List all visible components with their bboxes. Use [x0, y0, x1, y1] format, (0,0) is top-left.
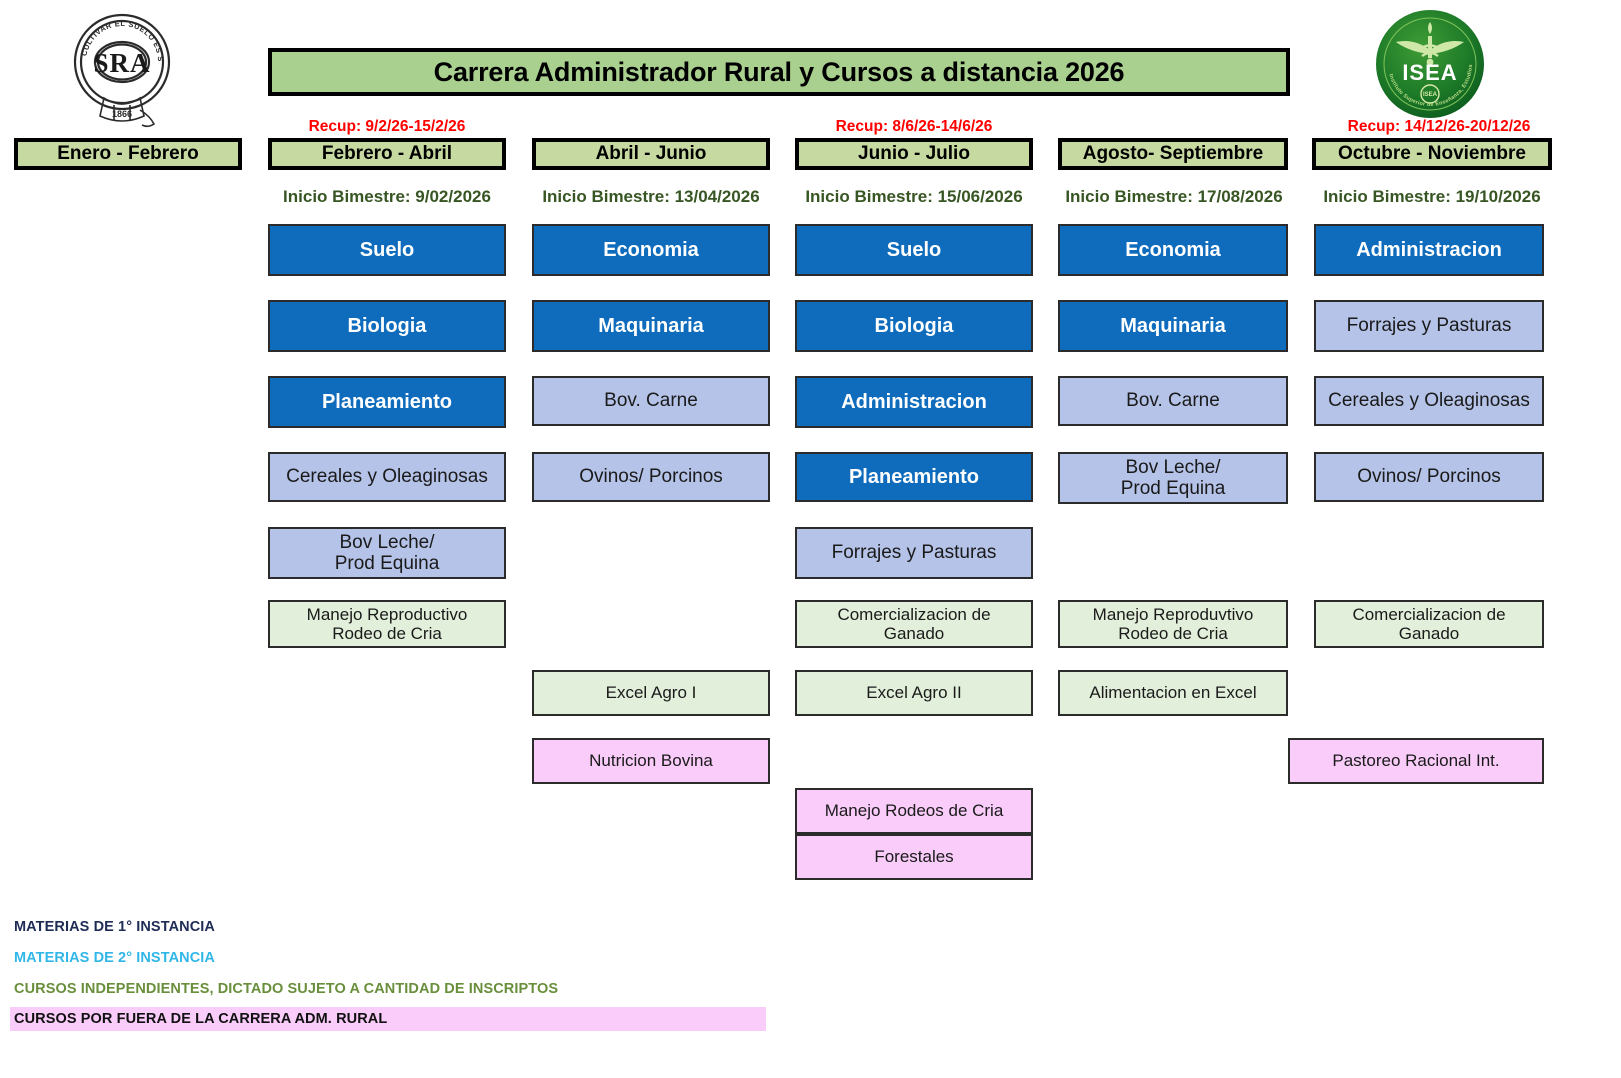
course-box[interactable]: Economia	[1058, 224, 1288, 276]
inicio-label-agosto-septiembre: Inicio Bimestre: 17/08/2026	[1050, 186, 1298, 208]
inicio-label-junio-julio: Inicio Bimestre: 15/06/2026	[787, 186, 1041, 208]
month-header-agosto-septiembre[interactable]: Agosto- Septiembre	[1058, 138, 1288, 170]
course-box[interactable]: Nutricion Bovina	[532, 738, 770, 784]
course-box[interactable]: Administracion	[1314, 224, 1544, 276]
recup-label-abril-junio	[532, 117, 770, 137]
svg-text:ISEA: ISEA	[1423, 92, 1438, 98]
month-header-enero-febrero[interactable]: Enero - Febrero	[14, 138, 242, 170]
recup-label-febrero-abril: Recup: 9/2/26-15/2/26	[268, 117, 506, 137]
course-box[interactable]: Excel Agro II	[795, 670, 1033, 716]
course-box[interactable]: Forrajes y Pasturas	[1314, 300, 1544, 352]
month-header-junio-julio[interactable]: Junio - Julio	[795, 138, 1033, 170]
course-box[interactable]: Ovinos/ Porcinos	[532, 452, 770, 502]
course-box[interactable]: Biologia	[795, 300, 1033, 352]
course-box[interactable]: Administracion	[795, 376, 1033, 428]
course-box[interactable]: Cereales y Oleaginosas	[268, 452, 506, 502]
recup-label-junio-julio: Recup: 8/6/26-14/6/26	[795, 117, 1033, 137]
month-header-febrero-abril[interactable]: Febrero - Abril	[268, 138, 506, 170]
legend-item-cursos-por-fuera: CURSOS POR FUERA DE LA CARRERA ADM. RURA…	[10, 1007, 766, 1031]
recup-label-octubre-noviembre: Recup: 14/12/26-20/12/26	[1312, 117, 1566, 137]
course-box[interactable]: Planeamiento	[268, 376, 506, 428]
course-box[interactable]: Cereales y Oleaginosas	[1314, 376, 1544, 426]
course-box[interactable]: Pastoreo Racional Int.	[1288, 738, 1544, 784]
course-box[interactable]: Manejo Reproductivo Rodeo de Cria	[268, 600, 506, 648]
course-box[interactable]: Suelo	[795, 224, 1033, 276]
course-box[interactable]: Alimentacion en Excel	[1058, 670, 1288, 716]
course-box[interactable]: Manejo Rodeos de Cria	[795, 788, 1033, 834]
sra-logo: SRA 1866 CULTIVAR EL SUELO ES SERVIR A L…	[52, 10, 192, 128]
course-box[interactable]: Forestales	[795, 834, 1033, 880]
inicio-label-febrero-abril: Inicio Bimestre: 9/02/2026	[268, 186, 506, 208]
svg-text:ISEA: ISEA	[1402, 60, 1457, 85]
course-box[interactable]: Comercializacion de Ganado	[1314, 600, 1544, 648]
course-box[interactable]: Planeamiento	[795, 452, 1033, 502]
course-box[interactable]: Bov Leche/ Prod Equina	[1058, 452, 1288, 504]
course-box[interactable]: Suelo	[268, 224, 506, 276]
course-box[interactable]: Biologia	[268, 300, 506, 352]
course-box[interactable]: Maquinaria	[532, 300, 770, 352]
course-box[interactable]: Excel Agro I	[532, 670, 770, 716]
course-box[interactable]: Manejo Reproduvtivo Rodeo de Cria	[1058, 600, 1288, 648]
legend-item-cursos-independientes: CURSOS INDEPENDIENTES, DICTADO SUJETO A …	[14, 977, 558, 1001]
inicio-label-octubre-noviembre: Inicio Bimestre: 19/10/2026	[1306, 186, 1558, 208]
course-box[interactable]: Comercializacion de Ganado	[795, 600, 1033, 648]
course-box[interactable]: Bov. Carne	[1058, 376, 1288, 426]
svg-text:SRA: SRA	[93, 48, 150, 78]
svg-text:1866: 1866	[112, 109, 132, 119]
course-box[interactable]: Forrajes y Pasturas	[795, 527, 1033, 579]
month-header-octubre-noviembre[interactable]: Octubre - Noviembre	[1312, 138, 1552, 170]
course-box[interactable]: Bov. Carne	[532, 376, 770, 426]
inicio-label-abril-junio: Inicio Bimestre: 13/04/2026	[524, 186, 778, 208]
course-box[interactable]: Maquinaria	[1058, 300, 1288, 352]
legend-item-primera-instancia: MATERIAS DE 1° INSTANCIA	[14, 915, 215, 939]
page-title: Carrera Administrador Rural y Cursos a d…	[268, 48, 1290, 96]
isea-logo: ISEA ISEA Instituto Superior de Enseñanz…	[1374, 8, 1486, 120]
recup-label-agosto-septiembre	[1058, 117, 1288, 137]
month-header-abril-junio[interactable]: Abril - Junio	[532, 138, 770, 170]
course-box[interactable]: Economia	[532, 224, 770, 276]
course-box[interactable]: Bov Leche/ Prod Equina	[268, 527, 506, 579]
legend-item-segunda-instancia: MATERIAS DE 2° INSTANCIA	[14, 946, 215, 970]
course-box[interactable]: Ovinos/ Porcinos	[1314, 452, 1544, 502]
